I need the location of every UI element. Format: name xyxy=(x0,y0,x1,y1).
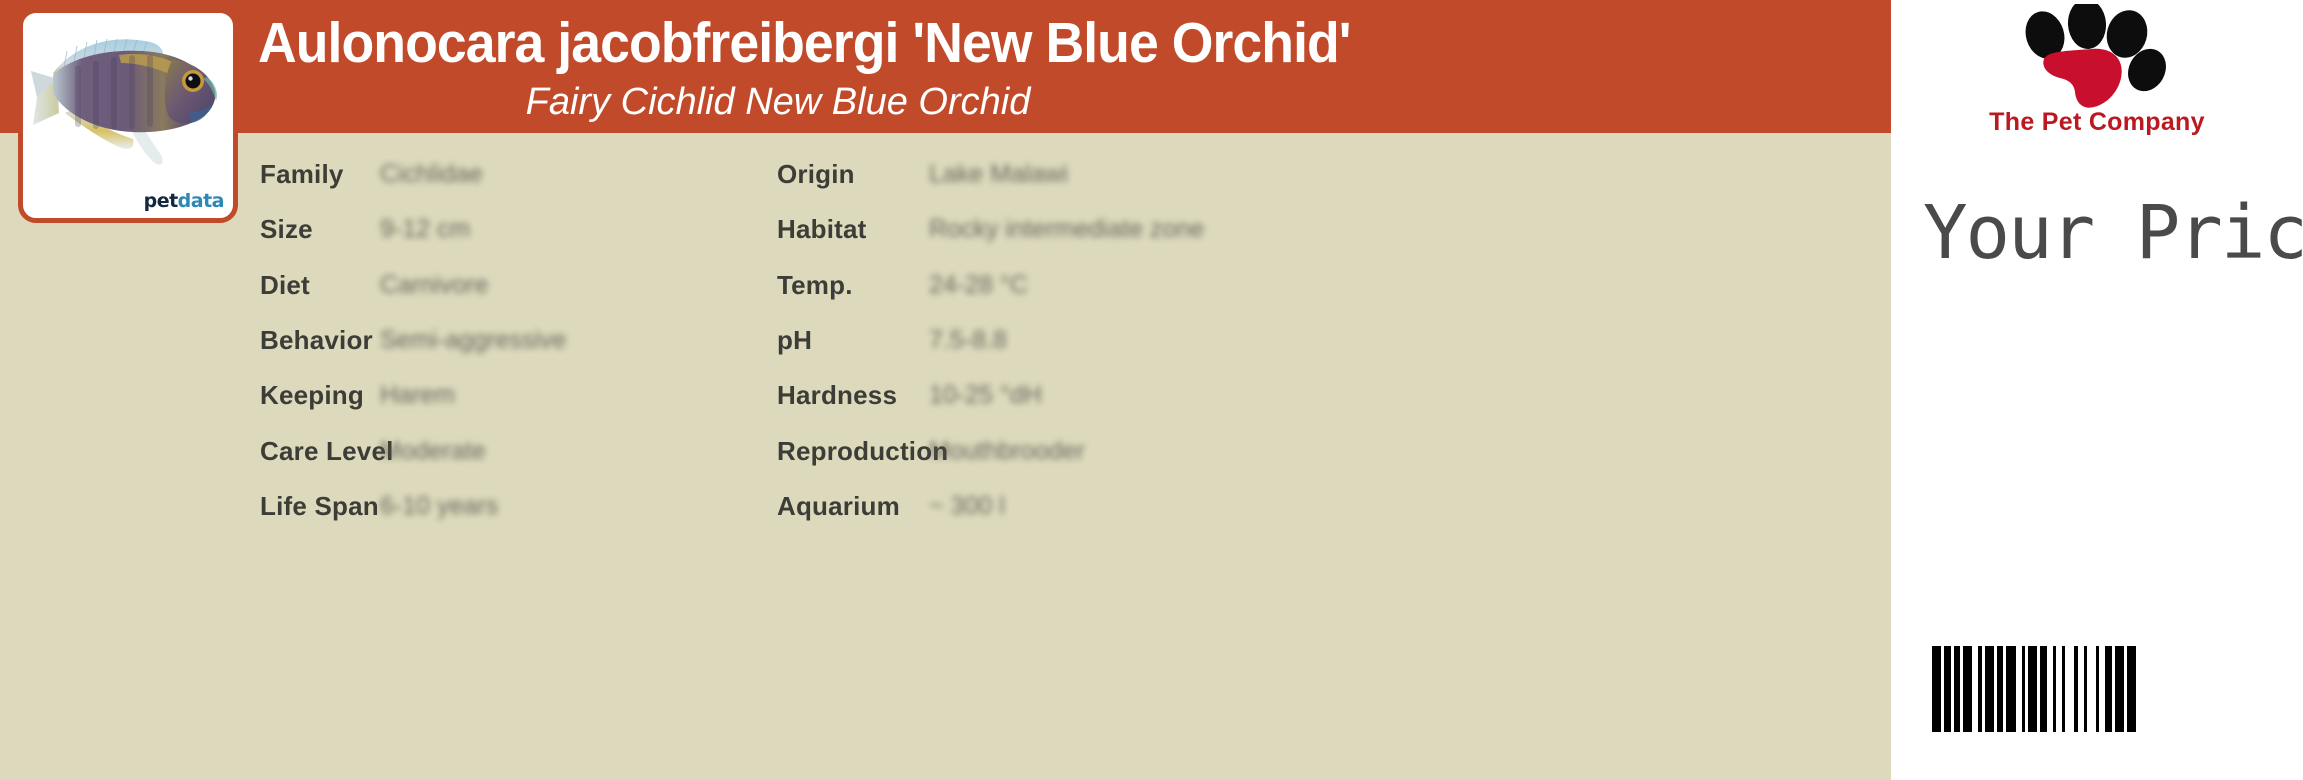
barcode-bar xyxy=(1985,646,1994,732)
spec-row: pH 7.5-8.8 xyxy=(777,313,1677,368)
spec-label-care-level: Care Level xyxy=(260,436,380,467)
barcode-bar xyxy=(2028,646,2037,732)
main-info-panel: Aulonocara jacobfreibergi 'New Blue Orch… xyxy=(0,0,1891,780)
spec-row: Habitat Rocky intermediate zone xyxy=(777,202,1677,257)
spec-value-reproduction: Mouthbrooder xyxy=(929,437,1085,466)
spec-label-ph: pH xyxy=(777,325,929,356)
spec-row: Origin Lake Malawi xyxy=(777,147,1677,202)
barcode-gap xyxy=(2087,646,2096,732)
spec-label-hardness: Hardness xyxy=(777,380,929,411)
brand-name: The Pet Company xyxy=(1891,108,2303,137)
page-title: Aulonocara jacobfreibergi 'New Blue Orch… xyxy=(258,10,1781,76)
spec-value-hardness: 10-25 °dH xyxy=(929,381,1042,410)
spec-column-right: Origin Lake Malawi Habitat Rocky interme… xyxy=(777,133,1677,534)
spec-value-temp: 24-28 °C xyxy=(929,271,1028,300)
spec-value-size: 9-12 cm xyxy=(380,215,470,244)
spec-grid: Family Cichlidae Size 9-12 cm Diet Carni… xyxy=(0,133,1891,780)
spec-label-family: Family xyxy=(260,159,380,190)
barcode-gap xyxy=(2065,646,2074,732)
barcode-bar xyxy=(1963,646,1972,732)
barcode-bar xyxy=(2006,646,2015,732)
barcode-bar xyxy=(2115,646,2124,732)
spec-value-origin: Lake Malawi xyxy=(929,160,1068,189)
spec-value-habitat: Rocky intermediate zone xyxy=(929,215,1204,244)
spec-label-diet: Diet xyxy=(260,270,380,301)
spec-value-ph: 7.5-8.8 xyxy=(929,326,1007,355)
spec-row: Reproduction Mouthbrooder xyxy=(777,423,1677,478)
spec-label-behavior: Behavior xyxy=(260,325,380,356)
spec-label-habitat: Habitat xyxy=(777,214,929,245)
spec-label-temp: Temp. xyxy=(777,270,929,301)
spec-row: Hardness 10-25 °dH xyxy=(777,368,1677,423)
spec-label-size: Size xyxy=(260,214,380,245)
header-text-group: Aulonocara jacobfreibergi 'New Blue Orch… xyxy=(258,10,1878,126)
spec-value-care-level: Moderate xyxy=(380,437,486,466)
species-label-card: Aulonocara jacobfreibergi 'New Blue Orch… xyxy=(0,0,2303,780)
spec-label-reproduction: Reproduction xyxy=(777,436,929,467)
price-panel: The Pet Company Your Price xyxy=(1891,0,2303,780)
brand-logo: The Pet Company xyxy=(1891,4,2303,154)
spec-label-life-span: Life Span xyxy=(260,491,380,522)
spec-value-life-span: 6-10 years xyxy=(380,492,498,521)
spec-row: Temp. 24-28 °C xyxy=(777,258,1677,313)
spec-row: Aquarium ~ 300 l xyxy=(777,479,1677,534)
page-subtitle: Fairy Cichlid New Blue Orchid xyxy=(258,78,1298,126)
spec-label-keeping: Keeping xyxy=(260,380,380,411)
spec-value-diet: Carnivore xyxy=(380,271,488,300)
spec-value-aquarium: ~ 300 l xyxy=(929,492,1005,521)
spec-value-family: Cichlidae xyxy=(380,160,483,189)
price-label: Your Price xyxy=(1923,193,2303,273)
spec-value-keeping: Harem xyxy=(380,381,455,410)
barcode xyxy=(1932,646,2136,732)
spec-label-aquarium: Aquarium xyxy=(777,491,929,522)
paw-print-icon xyxy=(1999,4,2199,116)
spec-value-behavior: Semi-aggressive xyxy=(380,326,566,355)
barcode-bar xyxy=(1932,646,1941,732)
barcode-bar xyxy=(2127,646,2136,732)
spec-label-origin: Origin xyxy=(777,159,929,190)
